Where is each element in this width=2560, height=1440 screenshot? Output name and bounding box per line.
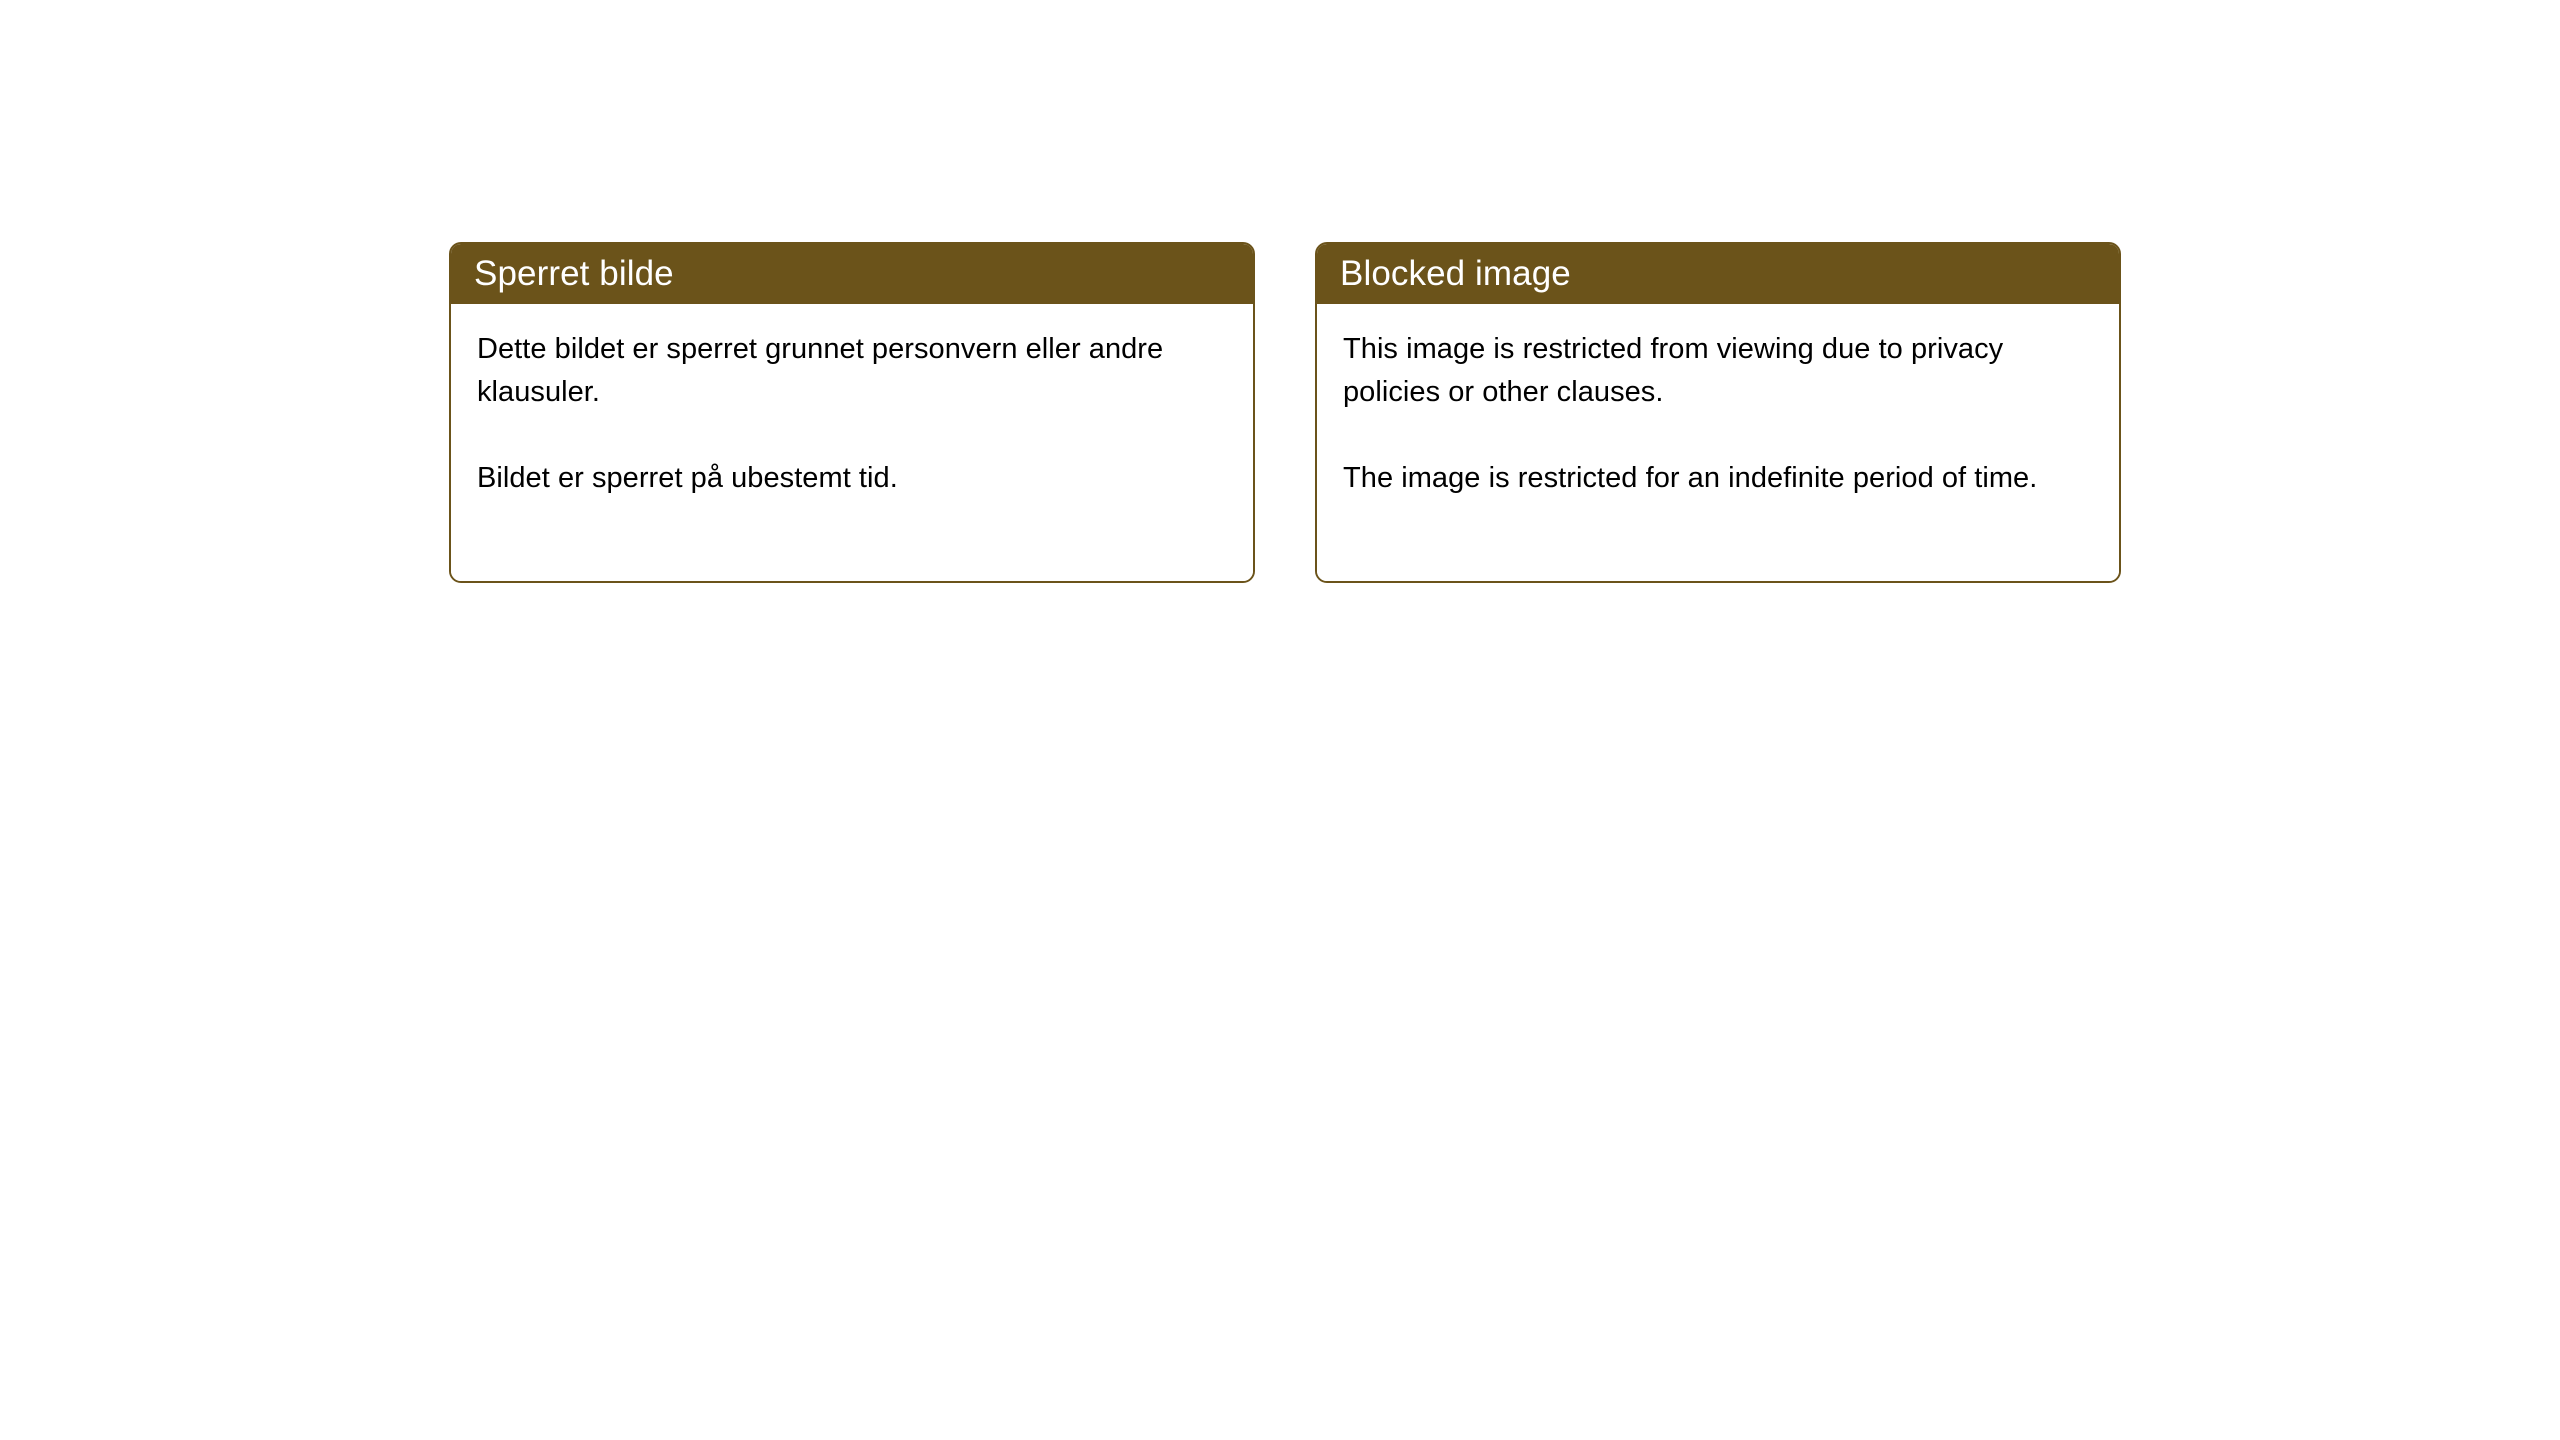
card-paragraph-secondary: Bildet er sperret på ubestemt tid. bbox=[477, 457, 1227, 500]
card-title: Sperret bilde bbox=[474, 255, 674, 293]
blocked-image-notice-card-norwegian: Sperret bilde Dette bildet er sperret gr… bbox=[449, 242, 1255, 583]
card-title: Blocked image bbox=[1340, 255, 1571, 293]
card-body: This image is restricted from viewing du… bbox=[1317, 304, 2119, 581]
card-paragraph-secondary: The image is restricted for an indefinit… bbox=[1343, 457, 2093, 500]
card-header-bar: Blocked image bbox=[1317, 244, 2119, 304]
card-paragraph-primary: This image is restricted from viewing du… bbox=[1343, 328, 2093, 414]
card-paragraph-primary: Dette bildet er sperret grunnet personve… bbox=[477, 328, 1227, 414]
blocked-image-notice-card-english: Blocked image This image is restricted f… bbox=[1315, 242, 2121, 583]
card-body: Dette bildet er sperret grunnet personve… bbox=[451, 304, 1253, 581]
page-canvas: Sperret bilde Dette bildet er sperret gr… bbox=[0, 0, 2560, 1440]
card-header-bar: Sperret bilde bbox=[451, 244, 1253, 304]
